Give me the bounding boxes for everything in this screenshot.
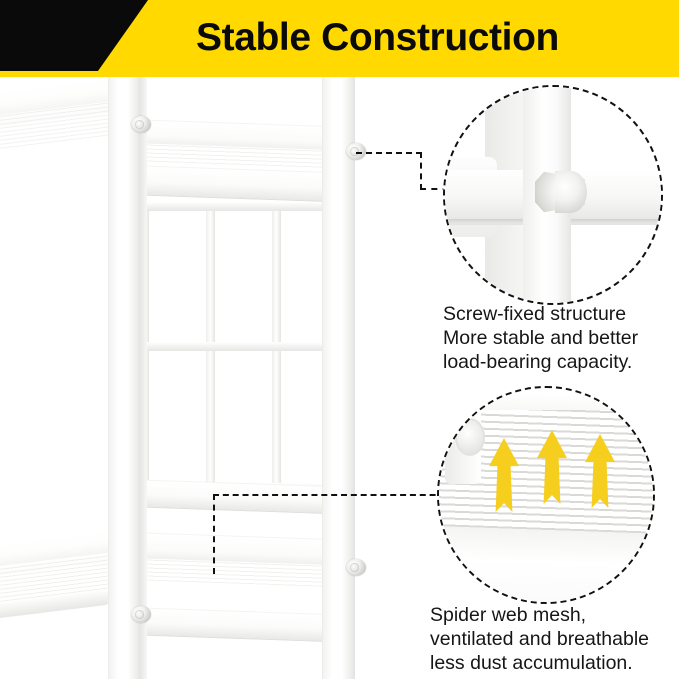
horizontal-rail-upper-back — [127, 165, 343, 202]
product-feature-graphic: Stable Construction — [0, 0, 679, 679]
leader-line-top-segment-2 — [420, 152, 422, 190]
vertical-post-inner — [139, 77, 147, 679]
leader-line-top-segment-1 — [356, 152, 422, 154]
callout-circle-mesh-ventilation — [437, 386, 655, 604]
screw-head-icon — [346, 559, 366, 576]
horizontal-rail-bottom — [128, 607, 344, 642]
lattice-horizontal-bar — [140, 342, 345, 351]
vertical-post-left — [108, 77, 141, 679]
mesh-shelf-bottom-lip — [437, 526, 655, 604]
callout-caption-mesh-ventilation: Spider web mesh, ventilated and breathab… — [430, 603, 679, 675]
leader-line-bottom-segment-1 — [213, 494, 475, 496]
page-title: Stable Construction — [196, 13, 666, 63]
callout-caption-screw-joint: Screw-fixed structure More stable and be… — [443, 302, 679, 374]
vertical-post-right — [322, 77, 355, 679]
leader-line-bottom-segment-2 — [213, 494, 215, 574]
product-image — [0, 77, 430, 679]
screw-head-icon — [131, 606, 151, 623]
screw-dome-icon — [555, 171, 587, 213]
lattice-horizontal-bar — [140, 202, 345, 211]
mesh-post-ring-icon — [455, 418, 485, 456]
lattice-grid-panel — [140, 202, 345, 492]
header-banner: Stable Construction — [0, 0, 679, 77]
callout-circle-screw-joint — [443, 85, 663, 305]
screw-head-icon — [131, 116, 151, 133]
